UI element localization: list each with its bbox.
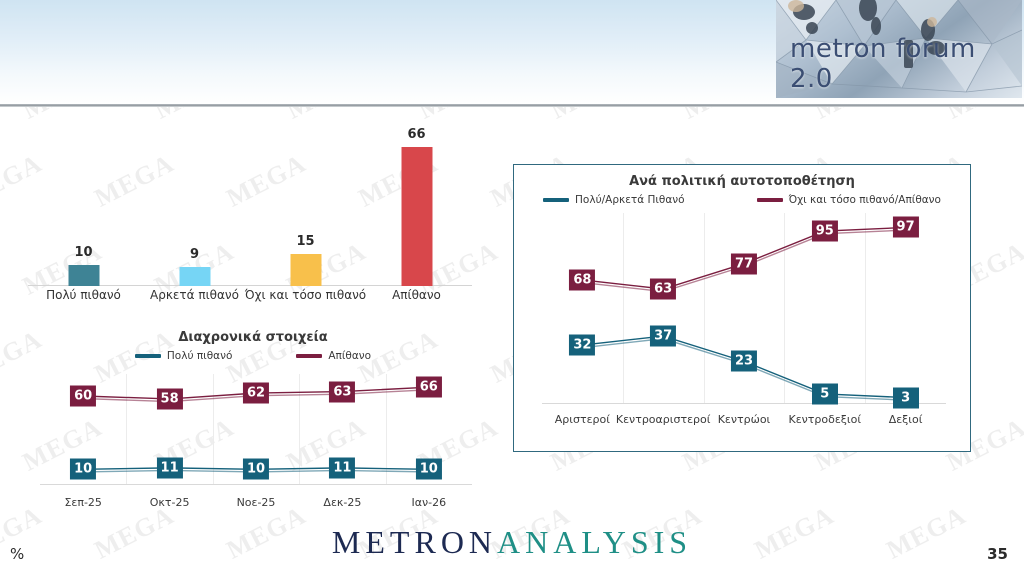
legend-swatch-teal: [135, 354, 161, 358]
x-axis-category-label: Οκτ-25: [150, 496, 190, 509]
x-axis-category-label: Αριστεροί: [555, 413, 610, 426]
legend-item-1: Όχι και τόσο πιθανό/Απίθανο: [757, 194, 941, 206]
legend-item-0: Πολύ πιθανό: [135, 350, 232, 362]
page-number: 35: [987, 545, 1008, 563]
x-axis-category-label: Νοε-25: [237, 496, 276, 509]
political-plot-area: 323723536863779597ΑριστεροίΚεντροαριστερ…: [542, 213, 946, 403]
data-point-label: 63: [329, 381, 355, 402]
line-series-svg: [542, 213, 946, 403]
bar-plot-area: 1091566: [28, 128, 472, 286]
header-divider: [0, 104, 1024, 107]
timeline-plot-area: 10111011106058626366Σεπ-25Οκτ-25Νοε-25Δε…: [40, 374, 472, 484]
legend-item-0: Πολύ/Αρκετά Πιθανό: [543, 194, 685, 206]
bar-rect: [401, 147, 432, 286]
bar-value-label: 10: [74, 245, 92, 260]
data-point-label: 62: [243, 383, 269, 404]
timeline-chart-title: Διαχρονικά στοιχεία: [18, 330, 488, 345]
bar-column: 66: [371, 128, 463, 286]
bar-value-label: 9: [190, 247, 199, 262]
data-point-label: 5: [812, 383, 838, 404]
x-axis-line: [40, 484, 472, 485]
data-point-label: 77: [731, 253, 757, 274]
data-point-label: 23: [731, 351, 757, 372]
forum-logo-label: metron forum 2.0: [790, 34, 1022, 94]
data-point-label: 37: [650, 326, 676, 347]
metron-forum-logo: metron forum 2.0: [776, 0, 1022, 98]
political-chart-title: Ανά πολιτική αυτοτοποθέτηση: [514, 174, 970, 189]
x-axis-category-label: Κεντροαριστεροί: [616, 413, 711, 426]
timeline-legend: Πολύ πιθανό Απίθανο: [18, 350, 488, 362]
legend-swatch-maroon: [296, 354, 322, 358]
overall-bar-chart: 1091566 Πολύ πιθανόΑρκετά πιθανόΌχι και …: [0, 128, 500, 316]
legend-label-0: Πολύ πιθανό: [167, 350, 232, 362]
legend-label-1: Απίθανο: [328, 350, 371, 362]
x-axis-category-label: Κεντρώοι: [718, 413, 771, 426]
legend-label-0: Πολύ/Αρκετά Πιθανό: [575, 194, 685, 206]
data-point-label: 10: [243, 459, 269, 480]
data-point-label: 3: [893, 387, 919, 408]
brand-part-analysis: ANALYSIS: [497, 524, 692, 560]
x-axis-category-label: Σεπ-25: [64, 496, 102, 509]
bar-category-label: Απίθανο: [337, 288, 497, 302]
x-axis-category-label: Ιαν-26: [411, 496, 446, 509]
data-point-label: 68: [569, 269, 595, 290]
data-point-label: 60: [70, 386, 96, 407]
watermark-text: MEGA: [750, 500, 839, 565]
metron-analysis-logo: METRONANALYSIS: [332, 524, 692, 561]
data-point-label: 66: [416, 377, 442, 398]
bar-value-label: 66: [407, 127, 425, 142]
x-axis-category-label: Δεξιοί: [889, 413, 923, 426]
x-axis-category-label: Κεντροδεξιοί: [788, 413, 861, 426]
timeline-line-chart: Διαχρονικά στοιχεία Πολύ πιθανό Απίθανο …: [18, 330, 488, 515]
bar-rect: [68, 265, 99, 286]
political-legend: Πολύ/Αρκετά Πιθανό Όχι και τόσο πιθανό/Α…: [514, 194, 970, 206]
bar-column: 10: [38, 128, 130, 286]
political-placement-chart: Ανά πολιτική αυτοτοποθέτηση Πολύ/Αρκετά …: [513, 164, 971, 452]
data-point-label: 11: [157, 457, 183, 478]
data-point-label: 97: [893, 217, 919, 238]
legend-label-1: Όχι και τόσο πιθανό/Απίθανο: [789, 194, 941, 206]
data-point-label: 10: [416, 459, 442, 480]
legend-swatch-maroon: [757, 198, 783, 202]
legend-item-1: Απίθανο: [296, 350, 371, 362]
brand-part-metron: METRON: [332, 524, 497, 560]
x-axis-line: [542, 403, 946, 404]
data-point-label: 10: [70, 459, 96, 480]
bar-value-label: 15: [296, 234, 314, 249]
x-axis-category-label: Δεκ-25: [323, 496, 361, 509]
data-point-label: 11: [329, 457, 355, 478]
watermark-text: MEGA: [882, 500, 971, 565]
bar-rect: [290, 254, 321, 286]
bar-column: 15: [260, 128, 352, 286]
bar-column: 9: [149, 128, 241, 286]
bar-rect: [179, 267, 210, 286]
legend-swatch-teal: [543, 198, 569, 202]
footer-unit-label: %: [10, 545, 24, 563]
data-point-label: 95: [812, 221, 838, 242]
data-point-label: 63: [650, 279, 676, 300]
data-point-label: 32: [569, 335, 595, 356]
data-point-label: 58: [157, 388, 183, 409]
